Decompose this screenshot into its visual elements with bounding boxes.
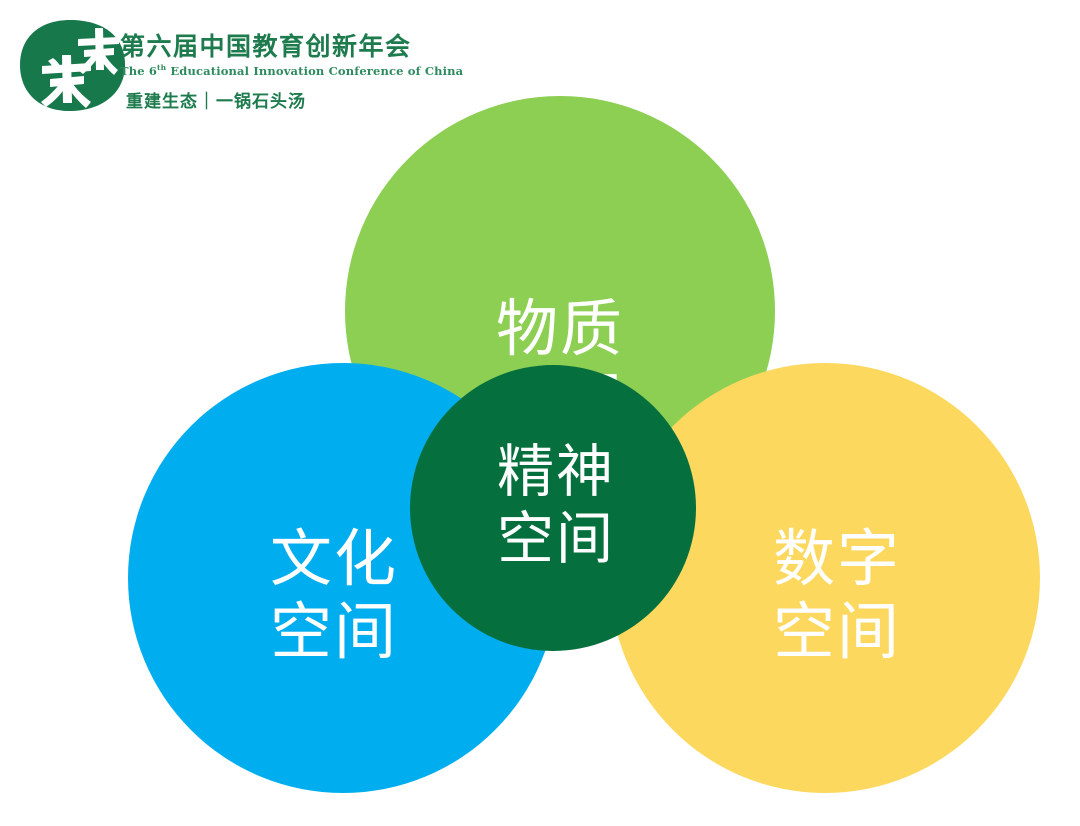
- venn-diagram: 物质 空间 文化 空间 数字 空间 精神 空间: [0, 0, 1080, 826]
- venn-circle-spirit-space[interactable]: 精神 空间: [410, 365, 696, 651]
- venn-label-digital-space: 数字 空间: [773, 522, 901, 668]
- slide-canvas: 第六届中国教育创新年会 The 6th Educational Innovati…: [0, 0, 1080, 826]
- venn-label-spirit-space: 精神 空间: [497, 439, 615, 574]
- venn-label-culture-space: 文化 空间: [270, 522, 398, 668]
